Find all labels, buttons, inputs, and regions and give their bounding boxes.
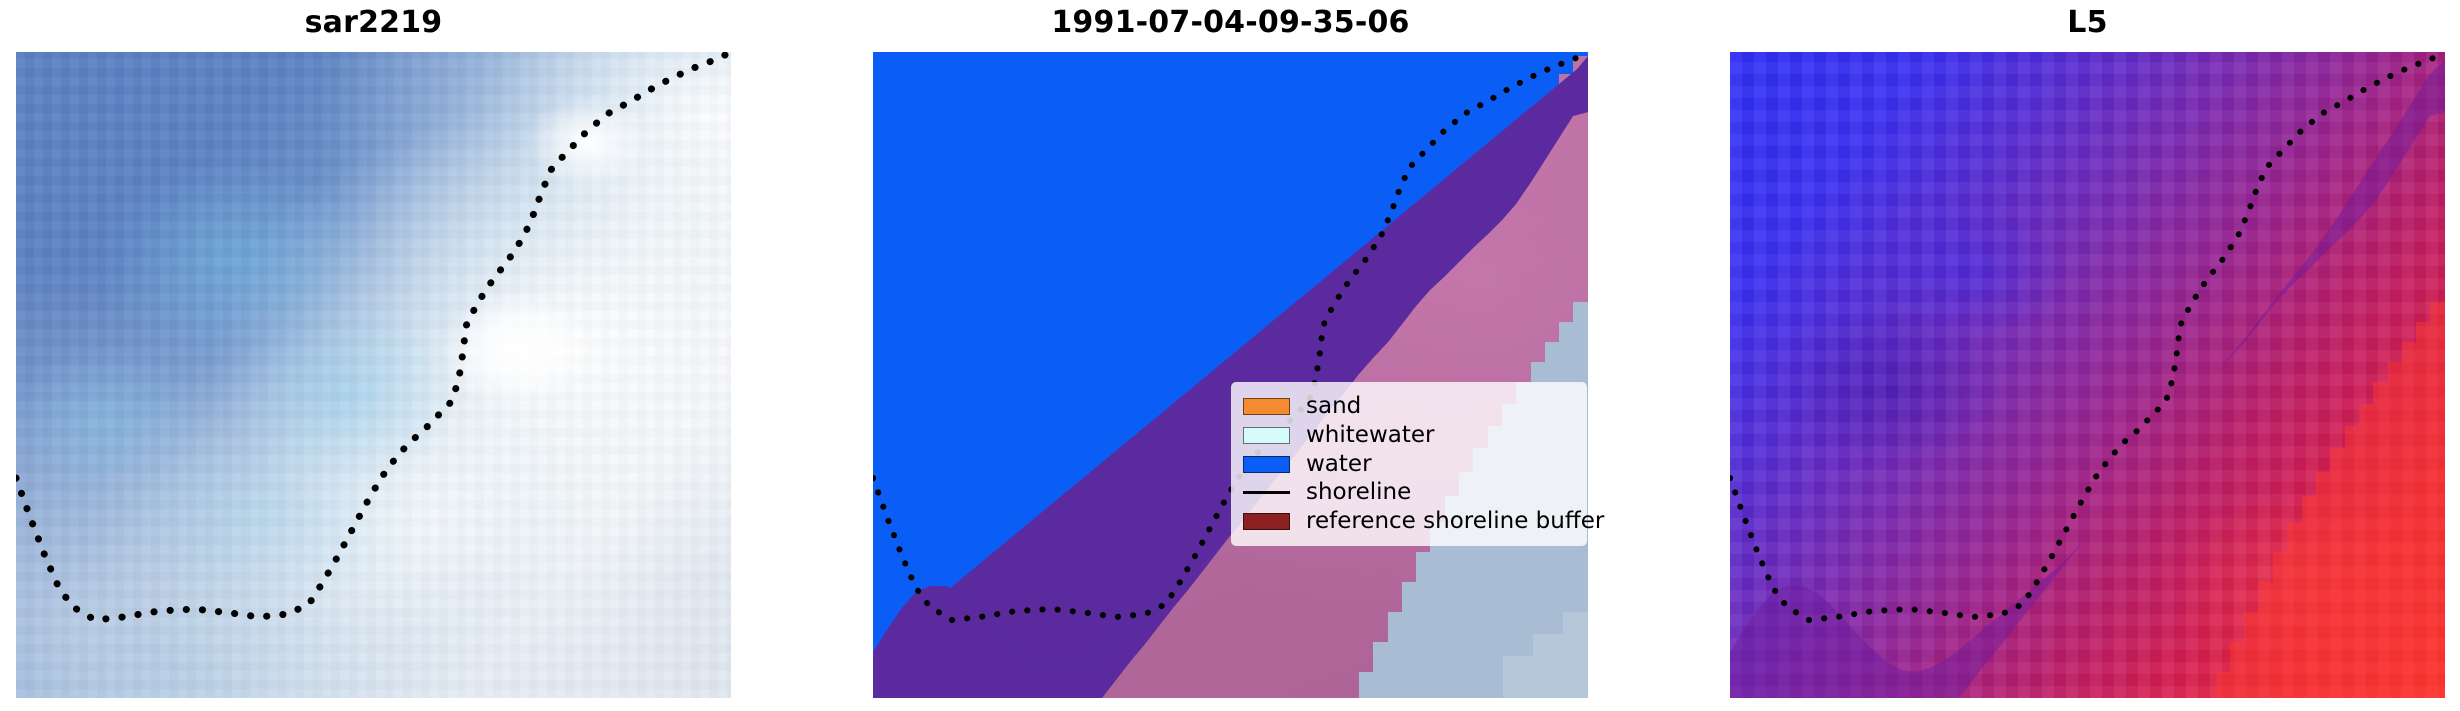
class-water-in-buffer-layer [873,52,1588,698]
legend-swatch [1243,427,1290,444]
legend-row-whitewater[interactable]: whitewater [1243,423,1573,448]
legend[interactable]: sandwhitewaterwatershorelinereference sh… [1231,382,1587,546]
legend-swatch [1243,456,1290,473]
legend-line-marker [1243,484,1290,501]
l5-raster [1730,52,2445,698]
legend-row-shoreline[interactable]: shoreline [1243,480,1573,505]
panel-sar-title: sar2219 [16,6,731,40]
panel-classification-axes[interactable] [873,52,1588,698]
legend-row-reference-shoreline-buffer[interactable]: reference shoreline buffer [1243,509,1573,534]
l5-buffer-band-layer [1730,52,2445,698]
legend-row-sand[interactable]: sand [1243,394,1573,419]
panel-l5-title: L5 [1730,6,2445,40]
legend-row-water[interactable]: water [1243,452,1573,477]
legend-swatch [1243,398,1290,415]
legend-label: water [1306,452,1372,477]
panel-classification-title: 1991-07-04-09-35-06 [873,6,1588,40]
legend-label: sand [1306,394,1361,419]
panel-l5: L5 [1730,0,2445,711]
panel-l5-axes[interactable] [1730,52,2445,698]
panel-classification: 1991-07-04-09-35-06 [873,0,1588,711]
legend-label: whitewater [1306,423,1434,448]
panel-sar-axes[interactable] [16,52,731,698]
sar-bright-target-layer [16,52,731,698]
figure-canvas: sar2219 1991-07-04-09-35-06 [0,0,2460,711]
legend-swatch [1243,513,1290,530]
panel-sar: sar2219 [16,0,731,711]
classification-raster [873,52,1588,698]
legend-label: reference shoreline buffer [1306,509,1604,534]
sar-raster [16,52,731,698]
legend-label: shoreline [1306,480,1411,505]
